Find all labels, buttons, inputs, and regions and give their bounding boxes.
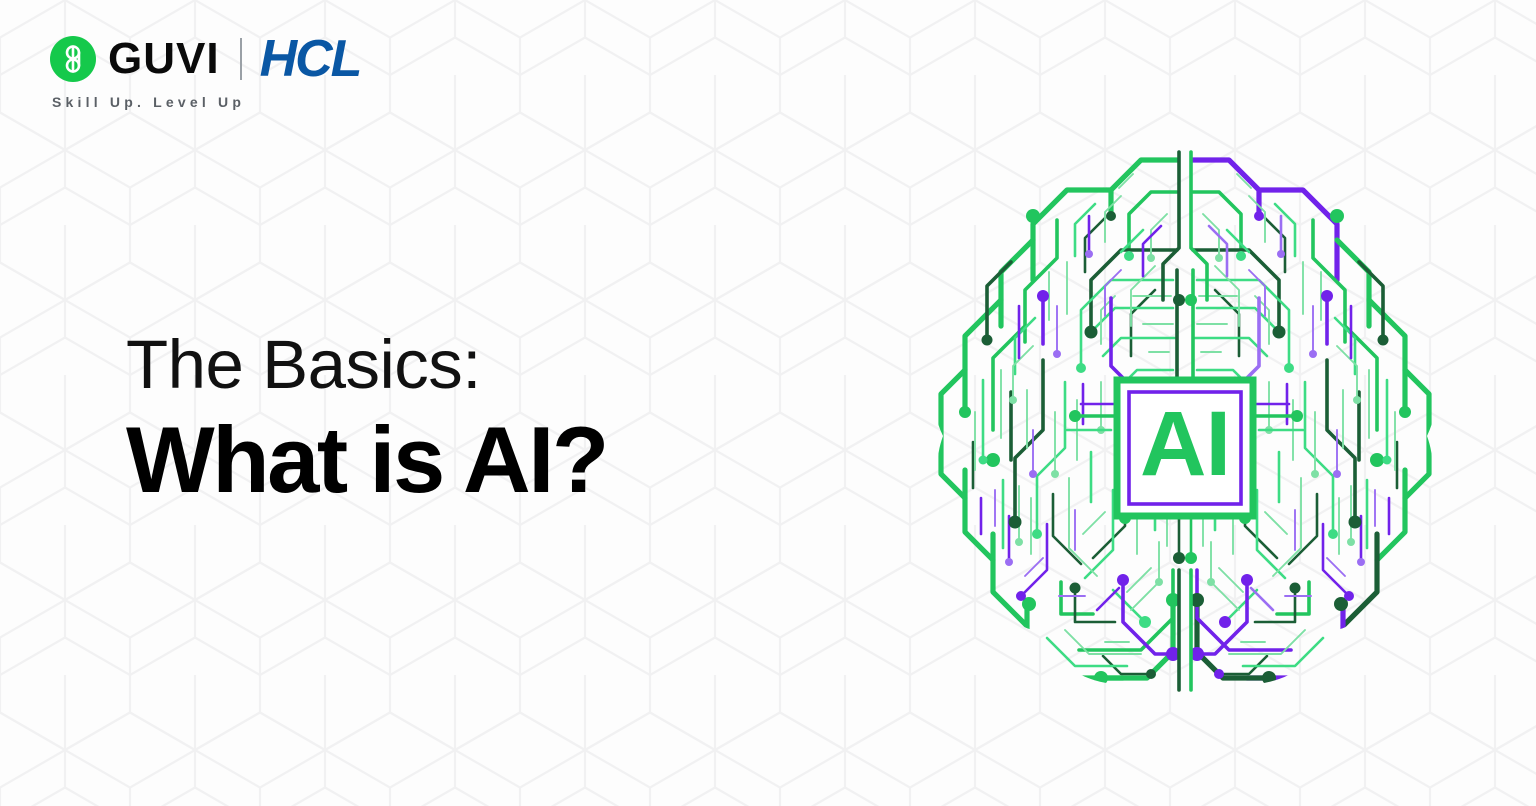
headline-block: The Basics: What is AI?	[126, 330, 607, 510]
page-title: What is AI?	[126, 411, 607, 510]
circuit-brain-icon: .g1{stroke:#22c55e;} /* bright green */ …	[915, 130, 1455, 710]
circuit-brain-graphic: .g1{stroke:#22c55e;} /* bright green */ …	[915, 130, 1455, 710]
slide-canvas: GUVI HCL Skill Up. Level Up The Basics: …	[0, 0, 1536, 806]
hcl-wordmark: HCL	[260, 33, 361, 85]
guvi-logo-mark	[50, 36, 96, 82]
logo-row: GUVI HCL	[50, 30, 360, 88]
headline-eyebrow: The Basics:	[126, 330, 607, 399]
guvi-wordmark: GUVI	[108, 37, 220, 81]
guvi-g-mark-icon	[58, 43, 88, 75]
ai-chip-label: AI	[1140, 393, 1230, 495]
guvi-tagline: Skill Up. Level Up	[52, 94, 360, 110]
ai-chip: AI	[1117, 380, 1253, 516]
brand-logo-bar: GUVI HCL Skill Up. Level Up	[50, 30, 360, 110]
logo-divider	[240, 38, 242, 80]
